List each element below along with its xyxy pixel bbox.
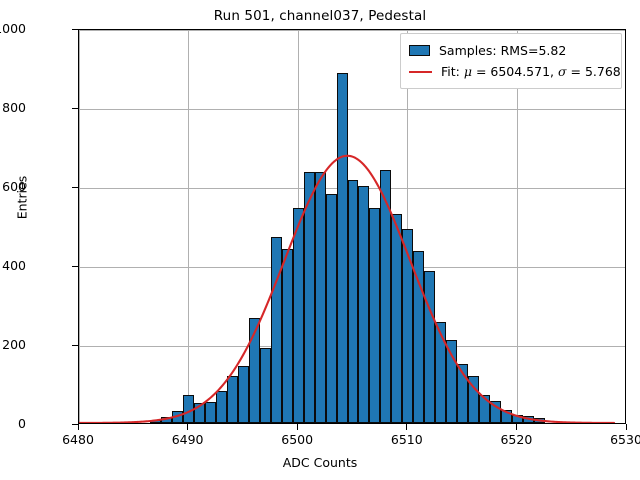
y-tick-label: 600 xyxy=(0,179,26,194)
x-tick-label: 6480 xyxy=(43,432,113,447)
y-tick-label: 800 xyxy=(0,100,26,115)
sigma-symbol: σ xyxy=(558,64,567,79)
x-tick-mark xyxy=(78,424,79,430)
y-tick-label: 0 xyxy=(0,416,26,431)
x-tick-label: 6530 xyxy=(591,432,640,447)
legend-label-fit: Fit: μ = 6504.571, σ = 5.768 xyxy=(441,64,621,79)
x-axis-label: ADC Counts xyxy=(0,455,640,470)
y-tick-label: 400 xyxy=(0,258,26,273)
x-tick-label: 6490 xyxy=(153,432,223,447)
mu-symbol: μ xyxy=(464,64,472,79)
page-title: Run 501, channel037, Pedestal xyxy=(0,8,640,24)
legend-box: Samples: RMS=5.82 Fit: μ = 6504.571, σ =… xyxy=(400,33,622,89)
x-tick-mark xyxy=(297,424,298,430)
x-tick-label: 6510 xyxy=(372,432,442,447)
x-tick-mark xyxy=(516,424,517,430)
y-tick-label: 1000 xyxy=(0,21,26,36)
legend-swatch-patch-icon xyxy=(409,45,430,56)
histogram-figure: Run 501, channel037, Pedestal Entries AD… xyxy=(0,0,640,480)
legend-swatch-line-icon xyxy=(409,71,432,73)
fit-path xyxy=(79,156,614,423)
x-tick-mark xyxy=(406,424,407,430)
y-tick-label: 200 xyxy=(0,337,26,352)
legend-item-fit[interactable]: Fit: μ = 6504.571, σ = 5.768 xyxy=(409,61,613,82)
x-tick-mark xyxy=(187,424,188,430)
legend-item-samples[interactable]: Samples: RMS=5.82 xyxy=(409,40,613,61)
legend-label-samples: Samples: RMS=5.82 xyxy=(439,43,566,58)
x-tick-label: 6500 xyxy=(262,432,332,447)
x-tick-mark xyxy=(626,424,627,430)
y-axis-label: Entries xyxy=(15,138,30,258)
x-tick-label: 6520 xyxy=(481,432,551,447)
